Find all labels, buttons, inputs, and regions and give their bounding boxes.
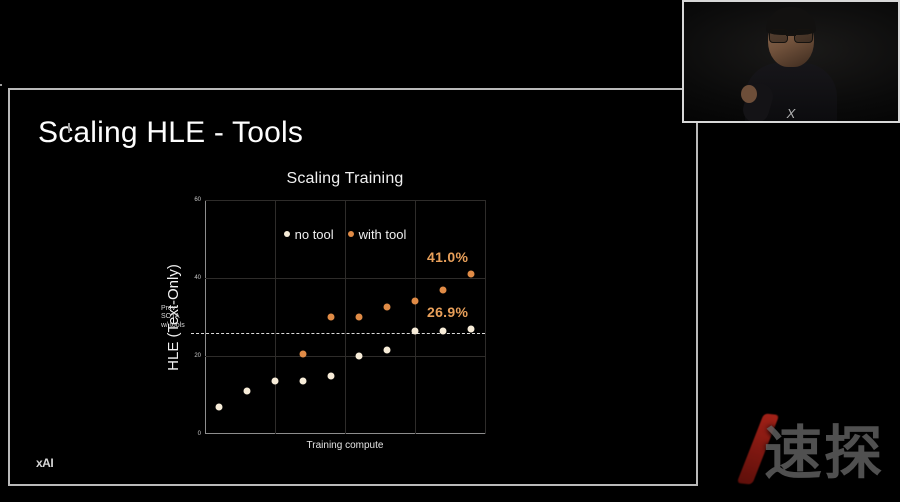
callout-26-9pct: 26.9% [427,304,468,320]
data-point-no-tool [328,372,335,379]
data-point-with-tool [328,314,335,321]
data-point-no-tool [244,388,251,395]
watermark-text: 速探 [764,406,884,490]
speaker-video-overlay[interactable]: X [682,0,900,123]
data-point-no-tool [356,353,363,360]
data-point-no-tool [468,326,475,333]
y-axis-tick-60: 60 [194,197,201,203]
legend-label-no-tool: no tool [295,227,334,242]
glasses-icon [769,29,813,41]
chart-title: Scaling Training [165,170,525,188]
gridline-horizontal [205,200,485,201]
gridline-horizontal [205,356,485,357]
plot-area: 0204060no toolwith toolPrevSOTAw/ tools4… [205,200,485,434]
shirt-x-logo: X [787,106,796,121]
data-point-with-tool [412,298,419,305]
presentation-slide: Scaling HLE - Tools Scaling Training HLE… [8,88,698,486]
data-point-no-tool [384,347,391,354]
y-axis-tick-40: 40 [194,275,201,281]
y-axis-tick-20: 20 [194,353,201,359]
speaker-hand [741,85,757,103]
data-point-with-tool [384,304,391,311]
data-point-no-tool [300,378,307,385]
data-point-no-tool [216,403,223,410]
prev-sota-label-line: Prev [161,305,185,314]
xai-logo: xAI [36,456,53,470]
legend-label-with-tool: with tool [359,227,407,242]
data-point-with-tool [440,286,447,293]
speaker-figure: X [743,7,839,123]
camera-frame-tick-bottom [68,123,70,133]
gridline-vertical [485,200,486,434]
y-axis-tick-0: 0 [198,431,201,437]
chart-legend: no toolwith tool [205,226,485,242]
prev-sota-label-line: w/ tools [161,322,185,331]
legend-dot-with-tool [348,231,354,237]
gridline-horizontal [205,278,485,279]
prev-sota-label-line: SOTA [161,313,185,322]
legend-dot-no-tool [284,231,290,237]
callout-41-0pct: 41.0% [427,249,468,265]
channel-watermark: 速探 [744,406,884,490]
data-point-with-tool [300,351,307,358]
camera-frame-tick-left [0,84,2,86]
data-point-no-tool [440,327,447,334]
screen: Scaling HLE - Tools Scaling Training HLE… [0,0,900,502]
slide-title: Scaling HLE - Tools [38,116,303,150]
data-point-no-tool [412,327,419,334]
data-point-no-tool [272,378,279,385]
prev-sota-label: PrevSOTAw/ tools [161,305,185,331]
scaling-training-chart: Scaling Training HLE (Text-Only) 0204060… [165,170,525,460]
data-point-with-tool [356,314,363,321]
data-point-with-tool [468,271,475,278]
x-axis-label: Training compute [205,440,485,451]
